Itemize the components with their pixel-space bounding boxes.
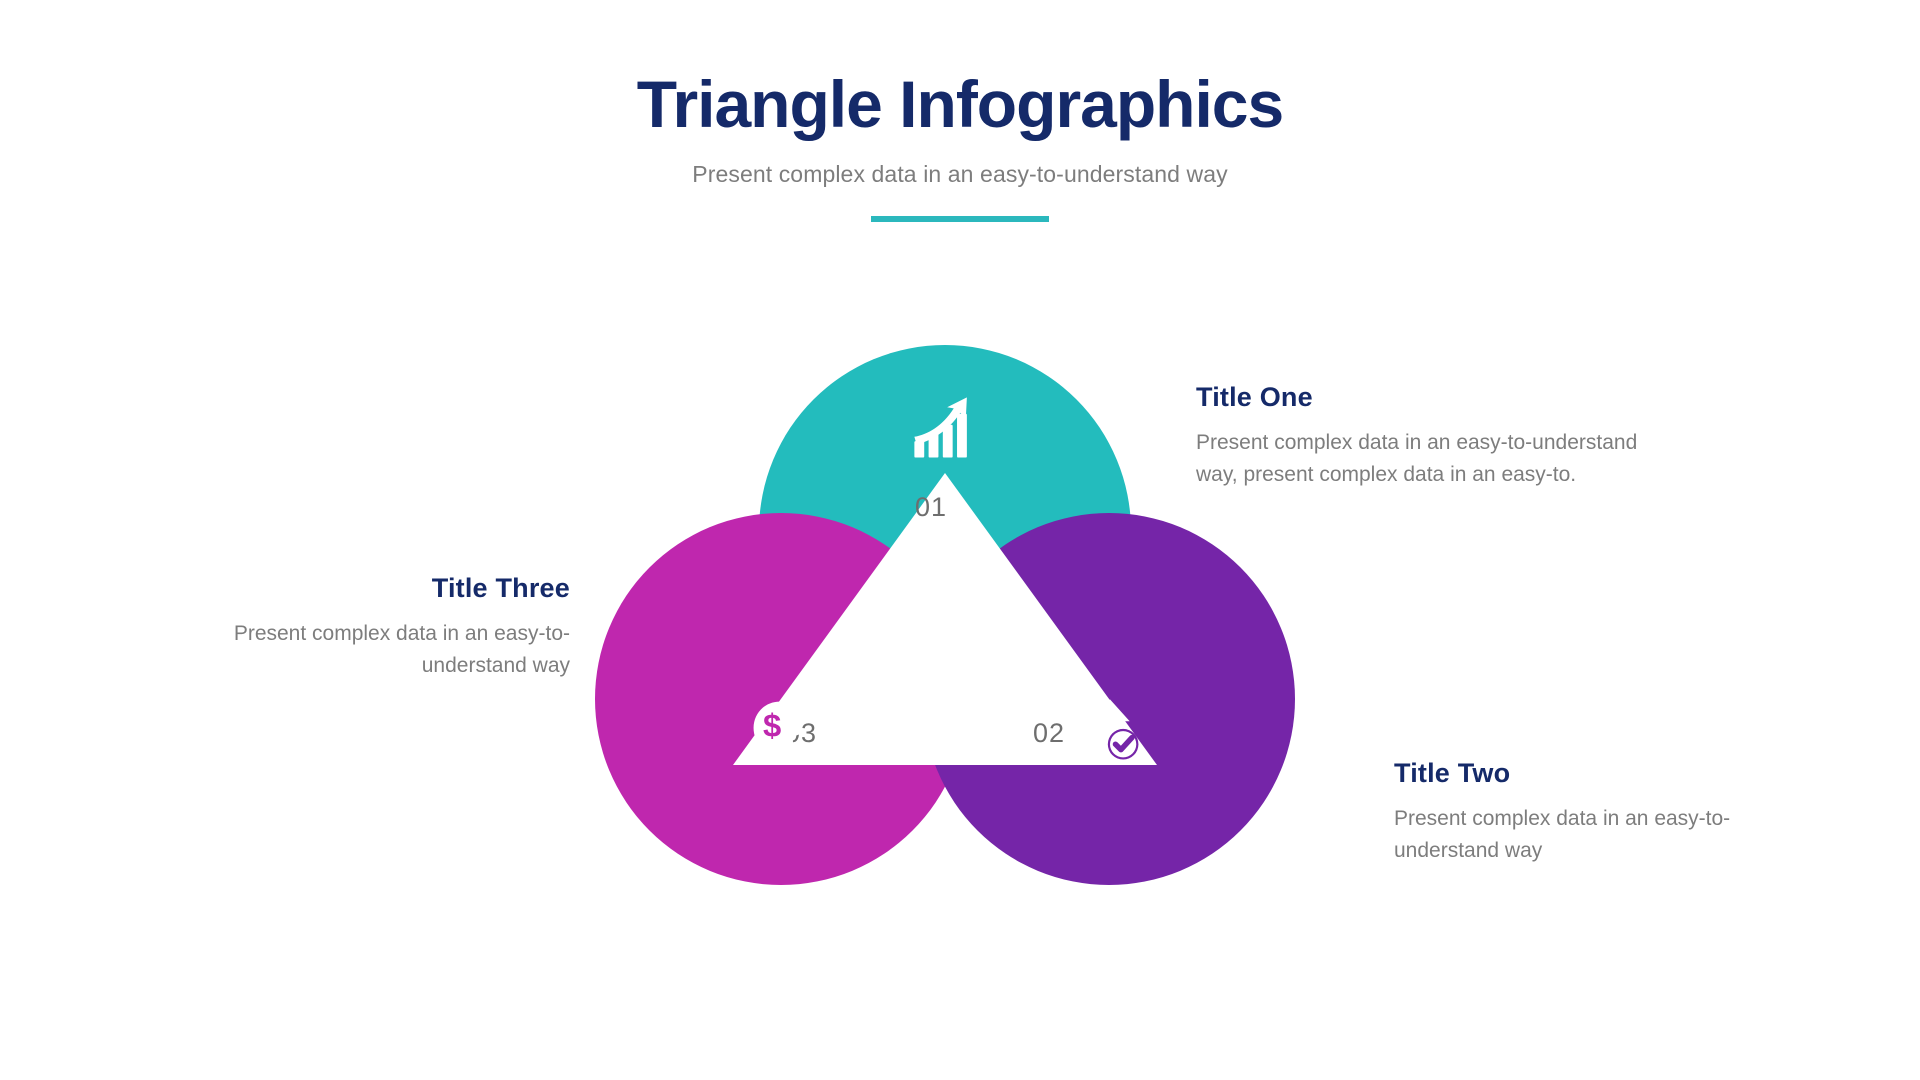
callout-three-body: Present complex data in an easy-to-under… bbox=[150, 618, 570, 681]
segment-number-02: 02 bbox=[1033, 718, 1065, 749]
callout-two-title: Title Two bbox=[1394, 758, 1814, 789]
svg-text:$: $ bbox=[763, 707, 781, 744]
head-dollar-sign-icon: $ bbox=[747, 695, 817, 765]
callout-three-title: Title Three bbox=[150, 573, 570, 604]
callout-title-three[interactable]: Title Three Present complex data in an e… bbox=[150, 573, 570, 681]
callout-title-two[interactable]: Title Two Present complex data in an eas… bbox=[1394, 758, 1814, 866]
double-up-arrow-check-icon bbox=[1075, 695, 1145, 765]
callout-two-body: Present complex data in an easy-to-under… bbox=[1394, 803, 1814, 866]
callout-title-one[interactable]: Title One Present complex data in an eas… bbox=[1196, 382, 1656, 490]
callout-one-title: Title One bbox=[1196, 382, 1656, 413]
title-divider bbox=[871, 216, 1049, 222]
page-title: Triangle Infographics bbox=[0, 70, 1920, 139]
header: Triangle Infographics Present complex da… bbox=[0, 70, 1920, 222]
callout-one-body: Present complex data in an easy-to-under… bbox=[1196, 427, 1656, 490]
triangle-venn-diagram: 01 03 02 $ bbox=[595, 345, 1295, 885]
segment-number-01: 01 bbox=[915, 492, 947, 523]
growth-bar-chart-arrow-icon bbox=[910, 393, 980, 463]
page-subtitle: Present complex data in an easy-to-under… bbox=[0, 161, 1920, 188]
